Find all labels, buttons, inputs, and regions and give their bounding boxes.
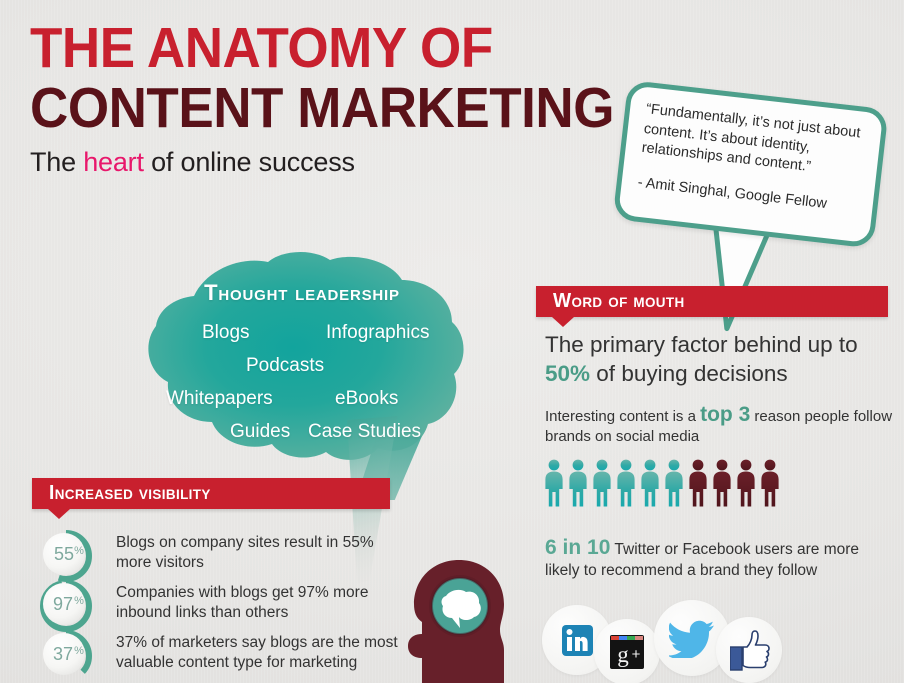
word-of-mouth-sub: Interesting content is a top 3 reason pe… — [545, 405, 895, 447]
brain-heading: Thought leadership — [122, 280, 482, 306]
svg-text:97: 97 — [53, 594, 73, 614]
svg-text:55: 55 — [54, 544, 74, 564]
subtitle-post: of online success — [144, 147, 355, 177]
stat-text-37: 37% of marketers say blogs are the most … — [116, 633, 401, 673]
banner-notch — [552, 317, 574, 327]
donut-ring-37: 37 % — [38, 628, 94, 683]
brain-term-podcasts: Podcasts — [246, 355, 324, 377]
page-title: THE ANATOMY OF CONTENT MARKETING The hea… — [30, 18, 570, 178]
wom-lead-highlight: 50% — [545, 361, 590, 386]
svg-text:%: % — [74, 645, 84, 657]
banner-word-of-mouth-label: Word of mouth — [553, 290, 685, 313]
stat-row-37: 37 % 37% of marketers say blogs are the … — [38, 628, 388, 683]
svg-text:+: + — [632, 646, 641, 663]
word-of-mouth-lead: The primary factor behind up to 50% of b… — [545, 330, 895, 388]
six-in-ten-stat: 6 in 10 Twitter or Facebook users are mo… — [545, 537, 890, 581]
brain-term-blogs: Blogs — [202, 322, 250, 344]
svg-text:%: % — [74, 595, 84, 607]
quote-attribution: - Amit Singhal, Google Fellow — [637, 175, 863, 216]
brain-term-guides: Guides — [230, 421, 290, 443]
brain-term-infographics: Infographics — [326, 322, 430, 344]
banner-word-of-mouth: Word of mouth — [536, 286, 888, 317]
stat-text-97: Companies with blogs get 97% more inboun… — [116, 583, 401, 623]
brain-term-whitepapers: Whitepapers — [166, 388, 273, 410]
svg-text:%: % — [74, 545, 84, 557]
google-plus-icon[interactable]: g + — [610, 635, 644, 669]
quote-bubble-body: “Fundamentally, it’s not just about cont… — [613, 80, 889, 249]
title-line-1: THE ANATOMY OF — [30, 18, 532, 78]
quote-bubble: “Fundamentally, it’s not just about cont… — [611, 80, 902, 260]
title-line-2: CONTENT MARKETING — [30, 78, 532, 138]
wom-sub-highlight: top 3 — [700, 403, 750, 426]
quote-text: “Fundamentally, it’s not just about cont… — [641, 100, 870, 183]
banner-notch — [48, 509, 70, 519]
banner-increased-visibility-label: Increased visibility — [49, 482, 211, 505]
subtitle-pre: The — [30, 147, 83, 177]
wom-lead-pre: The primary factor behind up to — [545, 332, 858, 357]
head-silhouette-icon — [404, 558, 514, 683]
donut-ring-55: 55 % — [38, 528, 94, 584]
infographic-canvas: THE ANATOMY OF CONTENT MARKETING The hea… — [0, 0, 904, 683]
facebook-like-icon[interactable] — [730, 630, 770, 672]
stat-text-55: Blogs on company sites result in 55% mor… — [116, 533, 401, 573]
svg-text:37: 37 — [53, 644, 73, 664]
wom-sub-pre: Interesting content is a — [545, 408, 700, 425]
wom-lead-post: of buying decisions — [590, 361, 788, 386]
brain-term-ebooks: eBooks — [335, 388, 398, 410]
svg-text:g: g — [617, 642, 629, 667]
subtitle-highlight: heart — [83, 147, 144, 177]
twitter-icon[interactable] — [669, 618, 715, 658]
banner-increased-visibility: Increased visibility — [32, 478, 390, 509]
six-in-ten-highlight: 6 in 10 — [545, 536, 610, 559]
page-subtitle: The heart of online success — [30, 147, 570, 178]
linkedin-icon[interactable] — [562, 625, 593, 656]
donut-ring-97: 97 % — [38, 578, 94, 634]
social-icons-row: g + — [540, 600, 840, 683]
people-pictograph — [543, 459, 783, 509]
brain-term-case-studies: Case Studies — [308, 421, 421, 443]
